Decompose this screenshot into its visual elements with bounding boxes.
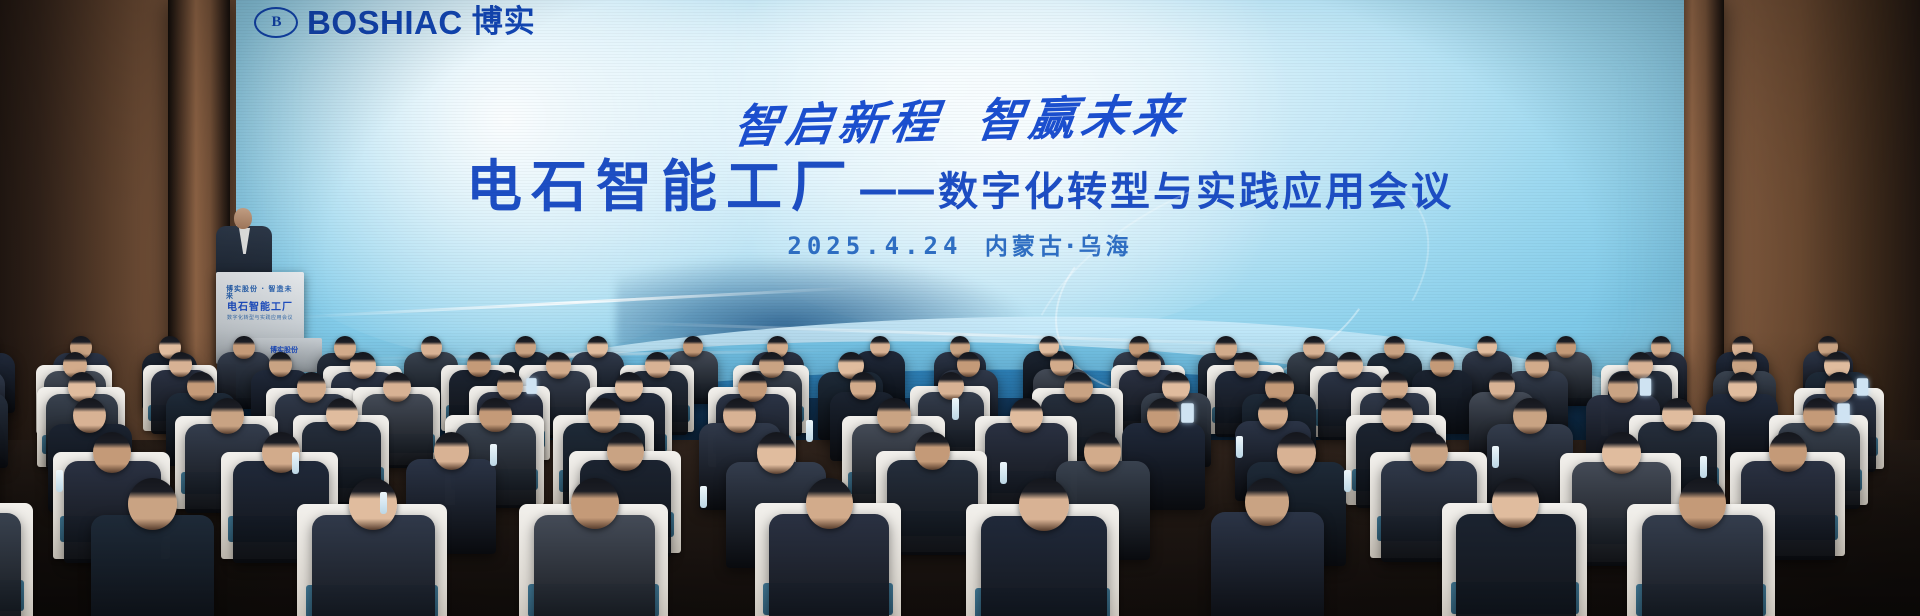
water-bottle bbox=[806, 420, 813, 442]
audience-head bbox=[1234, 352, 1259, 378]
audience-body bbox=[1642, 515, 1763, 616]
brand-name-english: BOSHIAC bbox=[307, 6, 463, 39]
water-bottle bbox=[1000, 462, 1007, 484]
water-bottle bbox=[952, 398, 959, 420]
audience-head bbox=[957, 352, 980, 377]
audience-head bbox=[383, 372, 411, 402]
audience-head bbox=[1084, 432, 1121, 472]
audience-phone bbox=[526, 378, 536, 394]
audience-head bbox=[187, 372, 214, 401]
audience-head bbox=[326, 398, 357, 431]
speaker-head bbox=[234, 208, 252, 229]
water-bottle bbox=[490, 444, 497, 466]
audience-body bbox=[1456, 514, 1575, 616]
audience-phone bbox=[1837, 403, 1850, 422]
audience-head bbox=[1602, 432, 1641, 474]
audience-head bbox=[1513, 398, 1547, 434]
brand-lockup: B BOSHIAC 博实 bbox=[254, 6, 536, 39]
audience-head bbox=[645, 352, 669, 378]
podium-line-3: 数字化转型与实践应用会议 bbox=[227, 316, 293, 321]
audience-head bbox=[1489, 372, 1515, 400]
audience-head bbox=[806, 478, 854, 529]
audience-head bbox=[1147, 398, 1179, 433]
audience-head bbox=[1381, 398, 1413, 432]
audience-head bbox=[349, 478, 397, 530]
audience-head bbox=[759, 352, 783, 378]
audience-head bbox=[211, 398, 244, 434]
audience-head bbox=[850, 372, 876, 400]
water-bottle bbox=[1492, 446, 1499, 468]
audience-head bbox=[479, 398, 511, 432]
audience-head bbox=[1050, 352, 1073, 376]
audience-head bbox=[93, 432, 131, 473]
water-bottle bbox=[380, 492, 387, 514]
audience-head bbox=[467, 352, 491, 377]
audience-head bbox=[1430, 352, 1454, 377]
audience-body bbox=[534, 515, 656, 616]
audience-head bbox=[1384, 336, 1406, 359]
audience-head bbox=[1525, 352, 1550, 378]
audience-head bbox=[571, 478, 619, 529]
audience-head bbox=[1608, 372, 1637, 403]
audience-head bbox=[683, 336, 703, 357]
audience-head bbox=[615, 372, 643, 402]
audience-head bbox=[1825, 372, 1854, 403]
audience-phone bbox=[1856, 378, 1867, 396]
audience-phone bbox=[1182, 403, 1195, 422]
podium-sign: 博实股份 · 智造未来 电石智能工厂 数字化转型与实践应用会议 bbox=[226, 286, 294, 320]
conference-photo: B BOSHIAC 博实 智启新程智赢未来 电石智能工厂 —— 数字化转型与实践… bbox=[0, 0, 1920, 616]
audience-head bbox=[515, 336, 536, 358]
audience-head bbox=[350, 352, 375, 379]
audience-head bbox=[1277, 432, 1316, 474]
audience-body bbox=[769, 514, 889, 616]
audience-phone bbox=[1640, 378, 1651, 396]
audience-head bbox=[1769, 432, 1806, 472]
audience-body bbox=[0, 513, 21, 616]
audience-head bbox=[1010, 398, 1043, 433]
audience-head bbox=[723, 398, 755, 433]
brand-name-chinese: 博实 bbox=[472, 7, 536, 38]
audience-head bbox=[233, 336, 254, 359]
audience-body bbox=[1211, 512, 1324, 616]
water-bottle bbox=[292, 452, 299, 474]
water-bottle bbox=[700, 486, 707, 508]
audience-head bbox=[1064, 372, 1093, 403]
podium-line-2: 电石智能工厂 bbox=[227, 303, 293, 313]
slogan-phrase-2: 智赢未来 bbox=[973, 89, 1189, 148]
water-bottle bbox=[1344, 470, 1351, 492]
audience-head bbox=[587, 336, 608, 358]
audience-head bbox=[1258, 398, 1288, 430]
podium-line-1: 博实股份 · 智造未来 bbox=[226, 286, 294, 300]
audience-head bbox=[1556, 336, 1576, 358]
slogan-phrase-1: 智启新程 bbox=[731, 94, 947, 153]
water-bottle bbox=[1700, 456, 1707, 478]
audience-body bbox=[981, 516, 1106, 616]
audience-head bbox=[1245, 478, 1290, 526]
audience-head bbox=[588, 398, 621, 433]
audience-head bbox=[434, 432, 470, 470]
audience-head bbox=[938, 372, 964, 400]
audience-head bbox=[757, 432, 797, 474]
audience-head bbox=[870, 336, 890, 357]
audience-head bbox=[1162, 372, 1190, 402]
audience-head bbox=[546, 352, 571, 379]
audience-head bbox=[607, 432, 643, 471]
audience-head bbox=[1303, 336, 1324, 359]
slogan-calligraphy: 智启新程智赢未来 bbox=[236, 80, 1684, 161]
audience-head bbox=[1337, 352, 1363, 379]
audience-head bbox=[1019, 478, 1069, 531]
audience-head bbox=[421, 336, 442, 359]
audience-head bbox=[1137, 352, 1161, 377]
audience-body bbox=[91, 515, 215, 616]
audience-body bbox=[312, 515, 435, 616]
water-bottle bbox=[56, 470, 63, 492]
audience-head bbox=[128, 478, 177, 530]
audience-head bbox=[877, 398, 910, 433]
boshiac-logo-icon: B bbox=[254, 7, 298, 38]
audience-head bbox=[269, 352, 292, 377]
audience-head bbox=[1728, 372, 1757, 402]
audience-head bbox=[1215, 336, 1237, 360]
audience-head bbox=[1679, 478, 1727, 529]
water-bottle bbox=[1236, 436, 1243, 458]
